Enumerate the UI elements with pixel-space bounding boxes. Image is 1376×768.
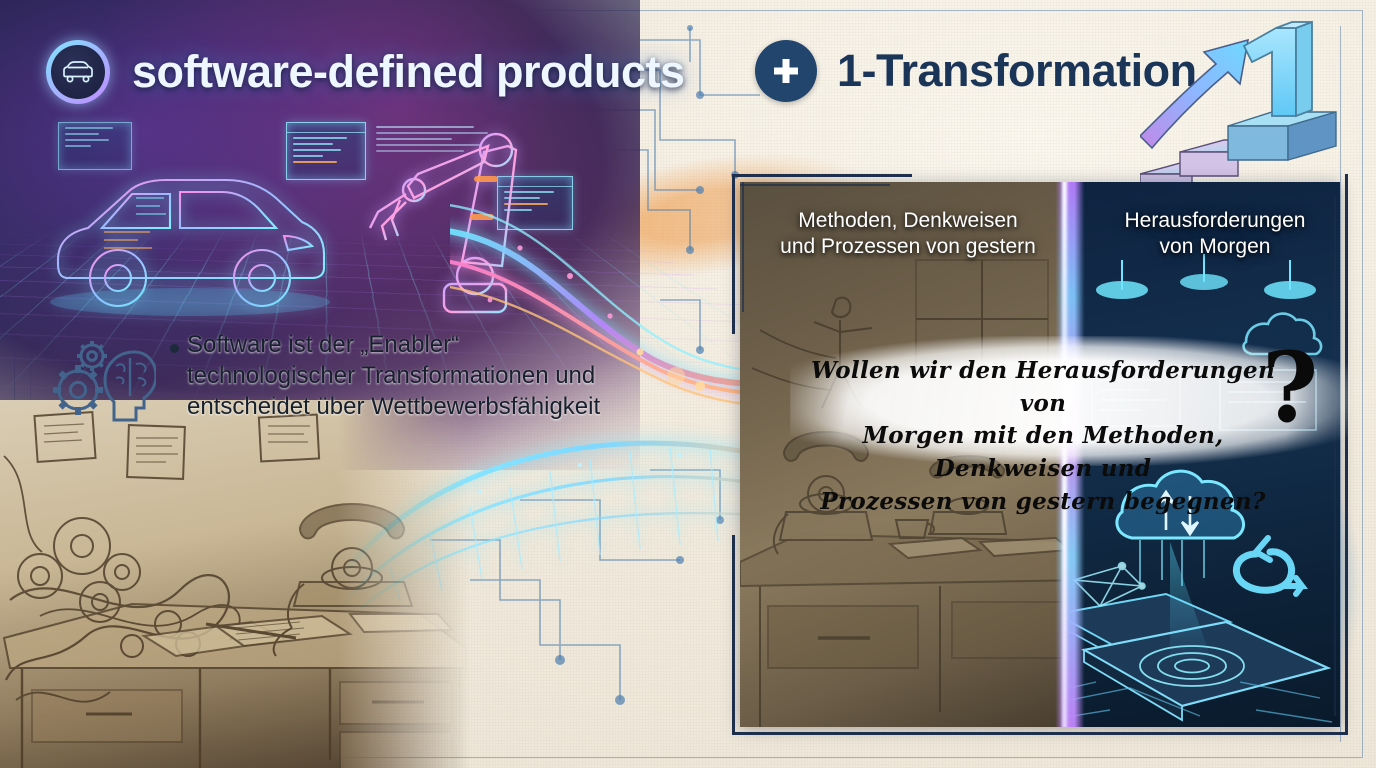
question-line-1: Wollen wir den Herausforderungen von [808,355,1278,420]
car-icon [46,40,110,104]
bullet-line-1: Software ist der „Enabler“ [187,330,600,361]
page-title-left: software-defined products [132,46,685,98]
left-header: software-defined products [46,40,685,104]
code-window-top [286,122,366,180]
bullet-text-group: Software ist der „Enabler“ technologisch… [170,330,600,423]
bullet-line-2: technologischer Transformationen und [187,361,600,392]
bullet-line-3: entscheidet über Wettbewerbsfähigkeit [187,392,600,423]
bullet-block: Software ist der „Enabler“ technologisch… [52,330,600,426]
bullet-text: Software ist der „Enabler“ technologisch… [187,330,600,423]
code-window-left [58,122,132,170]
right-header: 1-Transformation [755,40,1197,102]
panel-label-new: Herausforderungen von Morgen [1095,208,1335,261]
growth-podium-graphic [1140,18,1370,203]
plus-glyph [768,53,804,89]
question-mark-icon: ? [1262,340,1318,436]
ceiling-light-icons [1096,254,1316,299]
car-glyph [61,61,95,83]
plus-circle-icon [755,40,817,102]
vintage-desk-sketch [0,400,470,768]
bullet-marker [170,344,179,353]
gears-brain-icon [52,334,156,426]
slide-canvas: software-defined products 1-Transformati… [0,0,1376,768]
question-line-2: Morgen mit den Methoden, Denkweisen und [808,420,1278,485]
podium-number-1 [1244,22,1312,116]
question-text: Wollen wir den Herausforderungen von Mor… [808,355,1278,518]
panel-label-old: Methoden, Denkweisen und Prozessen von g… [758,208,1058,261]
question-line-3: Prozessen von gestern begegnen? [808,486,1278,519]
agile-loop-icon [1236,538,1302,594]
